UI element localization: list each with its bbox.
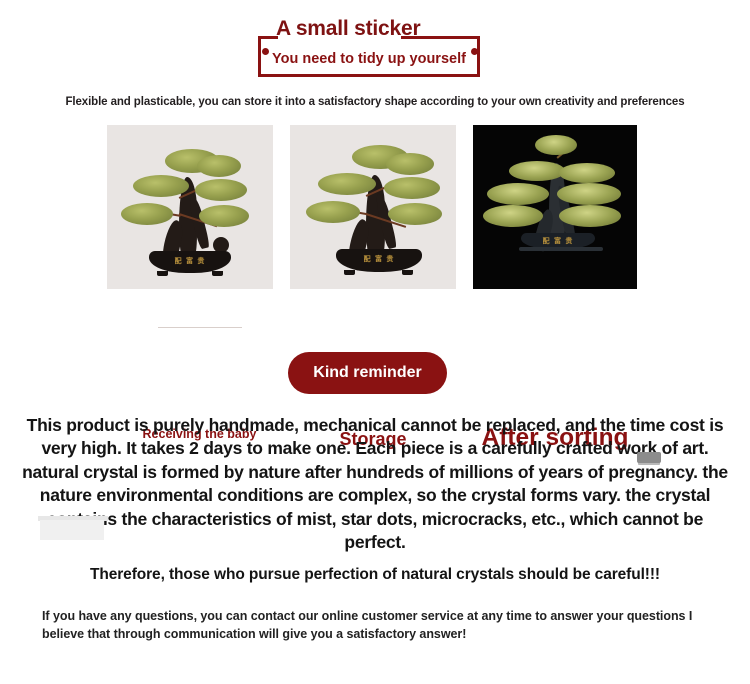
gallery-image-2[interactable]: 配 富 贵 — [290, 125, 456, 289]
product-description-page: A small sticker You need to tidy up your… — [0, 0, 750, 684]
customer-service-note: If you have any questions, you can conta… — [42, 608, 706, 644]
product-description-warning: Therefore, those who pursue perfection o… — [22, 566, 728, 584]
kind-reminder-button[interactable]: Kind reminder — [288, 352, 447, 394]
pot-inscription: 配 富 贵 — [350, 253, 408, 265]
pot-inscription: 配 富 贵 — [531, 235, 585, 247]
page-subtitle: You need to tidy up yourself — [258, 51, 480, 67]
header-block: A small sticker You need to tidy up your… — [0, 0, 750, 92]
bonsai-illustration: 配 富 贵 — [473, 125, 637, 289]
page-title: A small sticker — [276, 17, 486, 41]
gallery-image-3[interactable]: 配 富 贵 — [473, 125, 637, 289]
bonsai-illustration: 配 富 贵 — [107, 125, 273, 289]
product-description-main: This product is purely handmade, mechani… — [22, 414, 728, 555]
caption-underline — [158, 327, 242, 328]
tagline-text: Flexible and plasticable, you can store … — [0, 96, 750, 108]
gallery-image-1[interactable]: 配 富 贵 — [107, 125, 273, 289]
pot-inscription: 配 富 贵 — [163, 255, 217, 267]
bonsai-illustration: 配 富 贵 — [290, 125, 456, 289]
product-gallery: 配 富 贵 配 富 贵 — [0, 125, 750, 335]
